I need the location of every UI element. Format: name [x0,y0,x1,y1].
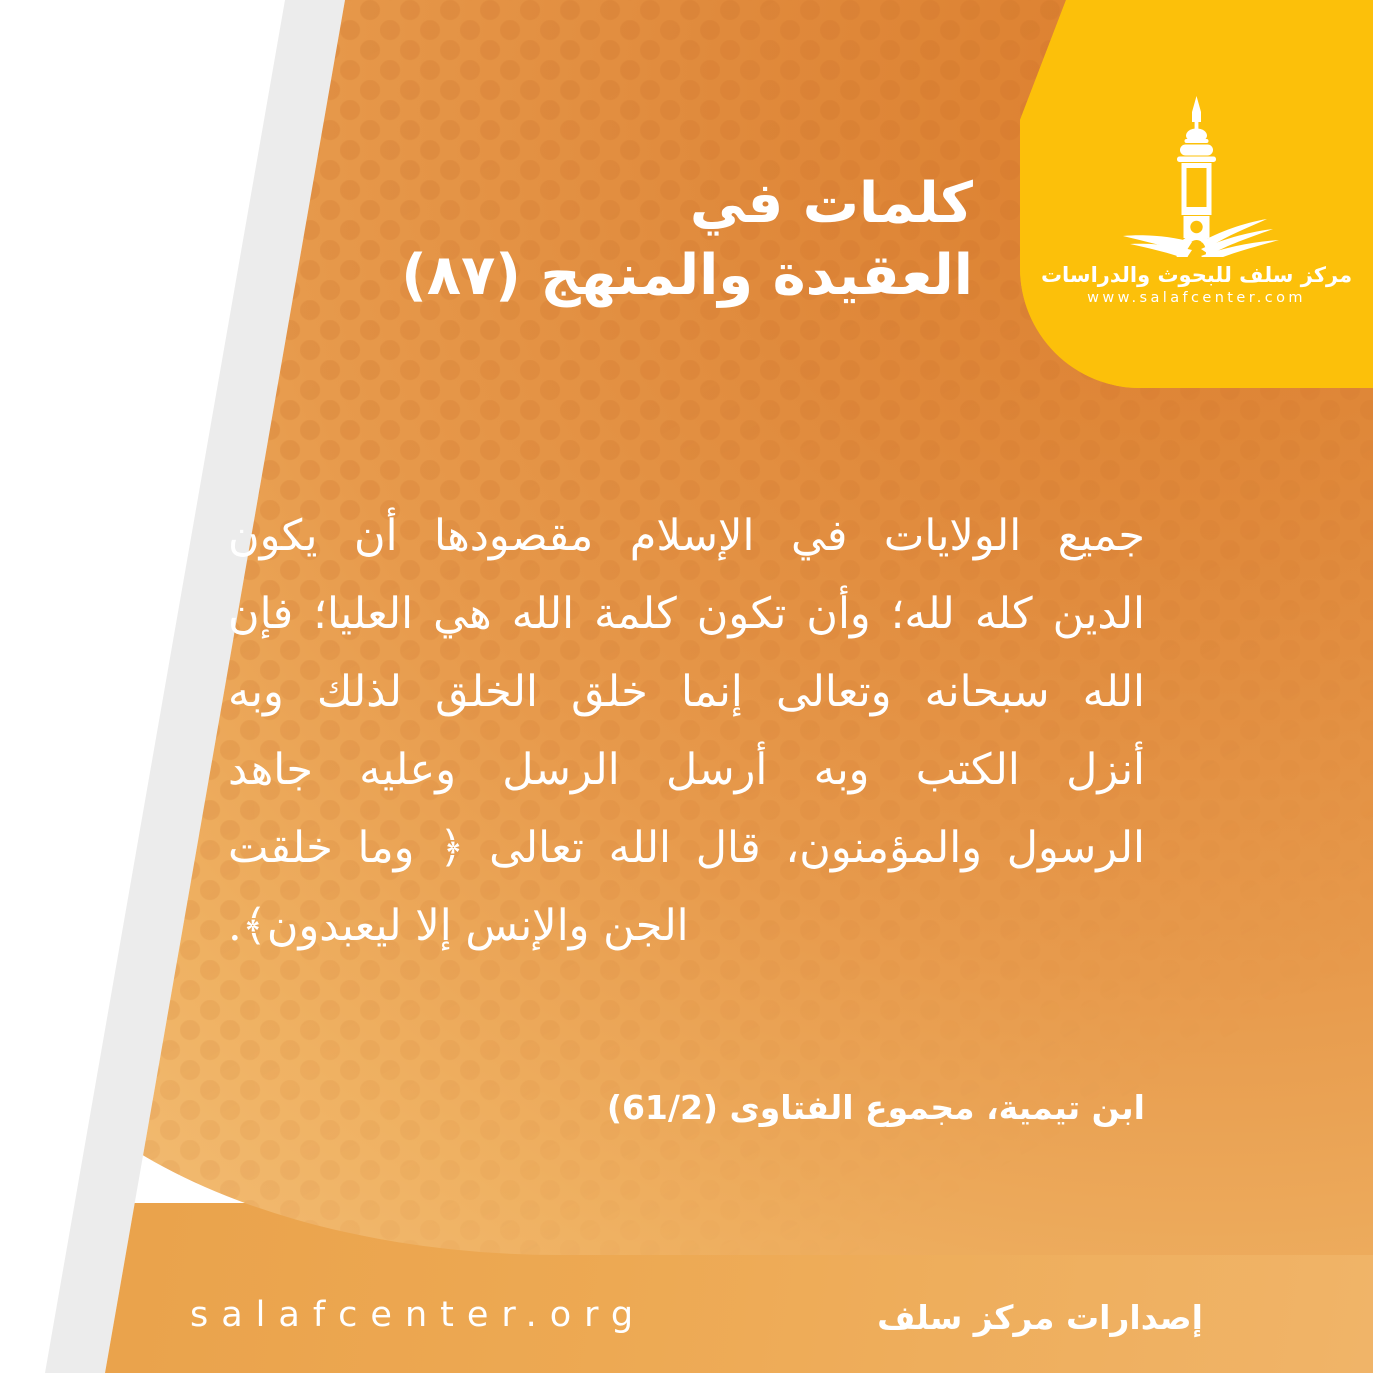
quote-attribution: ابن تيمية، مجموع الفتاوى (61/2) [228,1088,1145,1127]
quote-line: الجن والإنس إلا ليعبدون﴾. [228,887,1145,965]
quote-line: جميع الولايات في الإسلام مقصودها أن يكون [228,497,1145,575]
logo-name-arabic: مركز سلف للبحوث والدراسات [1041,263,1352,287]
logo-text: مركز سلف للبحوث والدراسات www.salafcente… [1041,263,1352,306]
page-title-line-1: كلمات في [353,168,973,240]
page-title-line-2: العقيدة والمنهج (٨٧) [353,240,973,312]
footer-content: salafcenter.org إصدارات مركز سلف [0,1255,1373,1373]
quote-line: الله سبحانه وتعالى إنما خلق الخلق لذلك و… [228,653,1145,731]
footer-publisher-label: إصدارات مركز سلف [877,1298,1203,1337]
quote-body: جميع الولايات في الإسلام مقصودها أن يكون… [228,497,1145,965]
quote-line: الرسول والمؤمنون، قال الله تعالى ﴿ وما خ… [228,809,1145,887]
quote-line: أنزل الكتب وبه أرسل الرسل وعليه جاهد [228,731,1145,809]
logo-website: www.salafcenter.com [1041,290,1352,306]
page-title: كلمات في العقيدة والمنهج (٨٧) [353,168,973,311]
minaret-book-logo-icon [1089,92,1304,261]
poster-card: salafcenter.org إصدارات مركز سلف كلمات ف… [0,0,1373,1373]
logo-block: مركز سلف للبحوث والدراسات www.salafcente… [1020,0,1373,388]
quote-line: الدين كله لله؛ وأن تكون كلمة الله هي الع… [228,575,1145,653]
logo-lockup: مركز سلف للبحوث والدراسات www.salafcente… [1020,92,1373,306]
footer-website-url[interactable]: salafcenter.org [190,1295,646,1335]
